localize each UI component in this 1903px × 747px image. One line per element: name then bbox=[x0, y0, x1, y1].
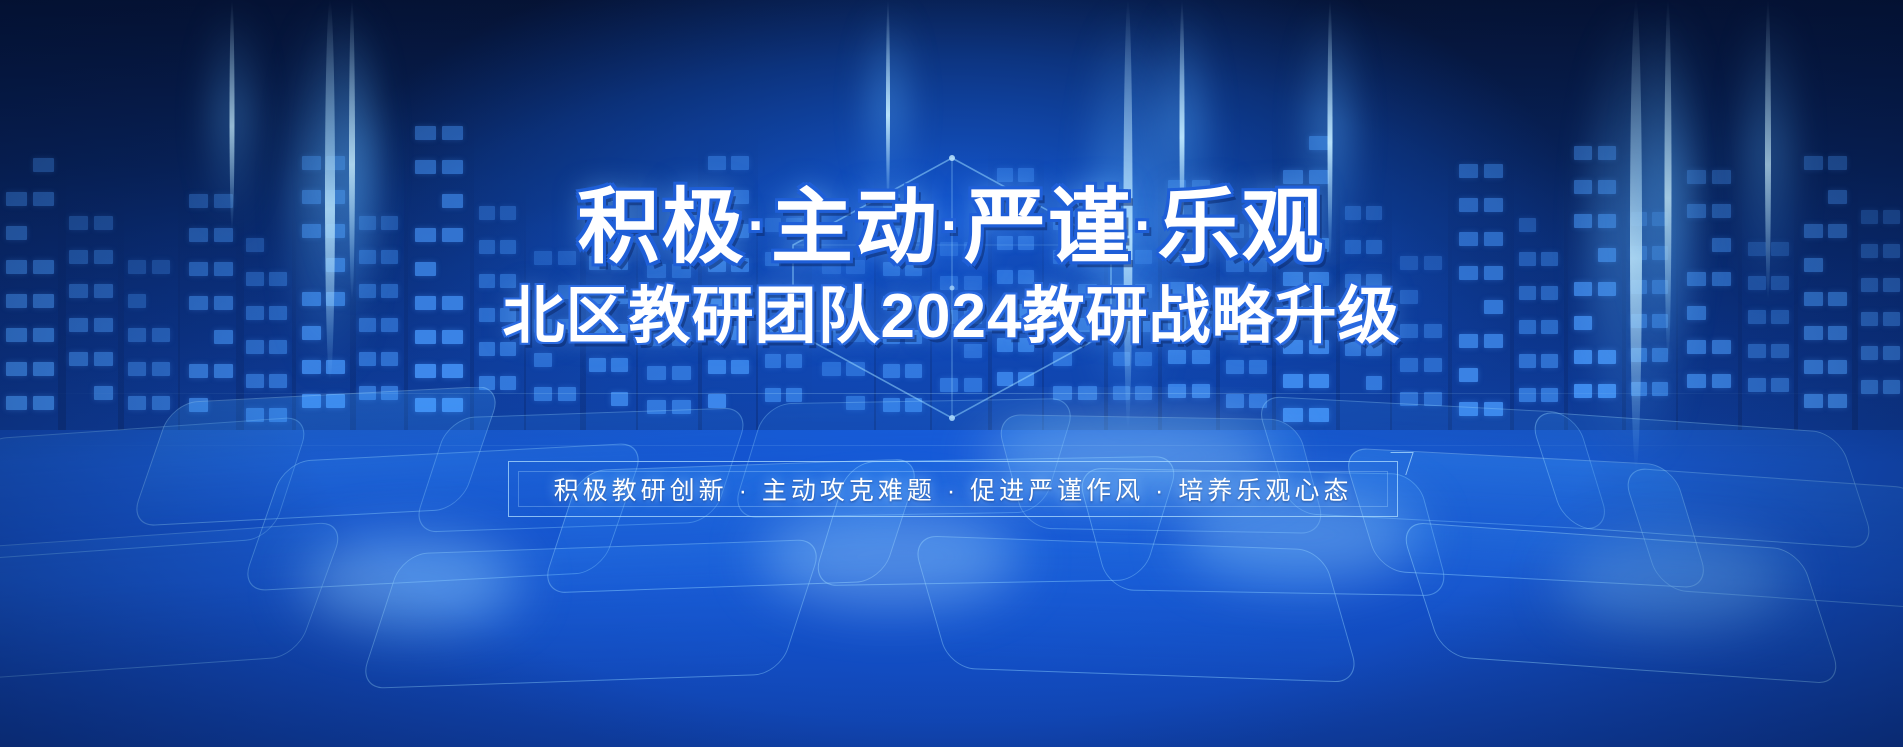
title-word-2: 主动 bbox=[771, 182, 939, 273]
tagline-frame: 积极教研创新 · 主动攻克难题 · 促进严谨作风 · 培养乐观心态 bbox=[508, 461, 1398, 517]
title-word-3: 严谨 bbox=[964, 182, 1132, 273]
banner-subtitle: 北区教研团队2024教研战略升级 bbox=[0, 280, 1903, 354]
title-word-4: 乐观 bbox=[1158, 182, 1326, 273]
title-dot-3: · bbox=[1132, 193, 1157, 258]
title-dot-2: · bbox=[939, 193, 964, 258]
banner-main-title: 积极·主动·严谨·乐观 bbox=[0, 178, 1903, 276]
title-block: 积极·主动·严谨·乐观 北区教研团队2024教研战略升级 bbox=[0, 178, 1903, 354]
title-word-1: 积极 bbox=[577, 182, 745, 273]
banner-tagline: 积极教研创新 · 主动攻克难题 · 促进严谨作风 · 培养乐观心态 bbox=[509, 462, 1397, 516]
promotional-banner: 积极·主动·严谨·乐观 北区教研团队2024教研战略升级 积极教研创新 · 主动… bbox=[0, 0, 1903, 747]
banner-content: 积极·主动·严谨·乐观 北区教研团队2024教研战略升级 积极教研创新 · 主动… bbox=[0, 0, 1903, 747]
title-dot-1: · bbox=[745, 193, 770, 258]
